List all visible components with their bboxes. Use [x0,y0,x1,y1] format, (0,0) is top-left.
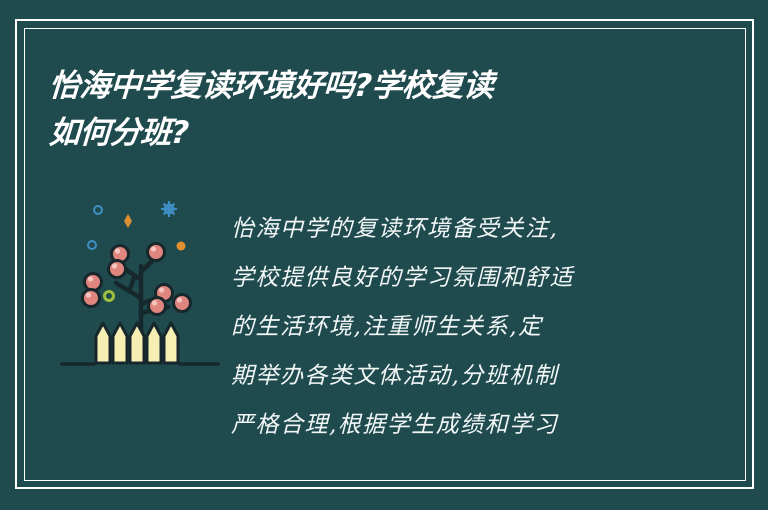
sparkle-circle-blue-1 [94,206,102,214]
body-line-3: 的生活环境,注重师生关系,定 [231,303,651,352]
body-paragraph: 怡海中学的复读环境备受关注, 学校提供良好的学习氛围和舒适 的生活环境,注重师生… [231,205,651,450]
title-line-1: 怡海中学复读环境好吗?学校复读 [48,63,650,110]
article-cover-card: 怡海中学复读环境好吗?学校复读 如何分班? 怡海中学的复读环境备受关注, 学校提… [0,0,768,510]
berry [109,261,126,278]
fence-picket [96,323,110,363]
body-line-1: 怡海中学的复读环境备受关注, [231,205,651,254]
body-line-5: 严格合理,根据学生成绩和学习 [231,401,651,450]
body-line-4: 期举办各类文体活动,分班机制 [231,352,651,401]
berry [174,295,191,312]
fence-picket [130,323,144,363]
berry-tree-and-fence-illustration [58,188,228,368]
sparkle-circle-green [105,292,114,301]
berry [149,298,166,315]
picket-fence [96,323,178,363]
sparkle-dot-orange [177,242,186,251]
body-line-2: 学校提供良好的学习氛围和舒适 [231,254,651,303]
fence-picket [147,323,161,363]
fence-picket [113,323,127,363]
berry [148,244,165,261]
sparkle-diamond-orange [124,214,132,228]
sparkle-circle-blue-2 [88,241,96,249]
berry [83,290,100,307]
title-line-2: 如何分班? [48,110,650,157]
berry [85,274,102,291]
sparkle-snowflake-blue [161,201,177,217]
page-title: 怡海中学复读环境好吗?学校复读 如何分班? [49,63,649,157]
fence-picket [164,323,178,363]
